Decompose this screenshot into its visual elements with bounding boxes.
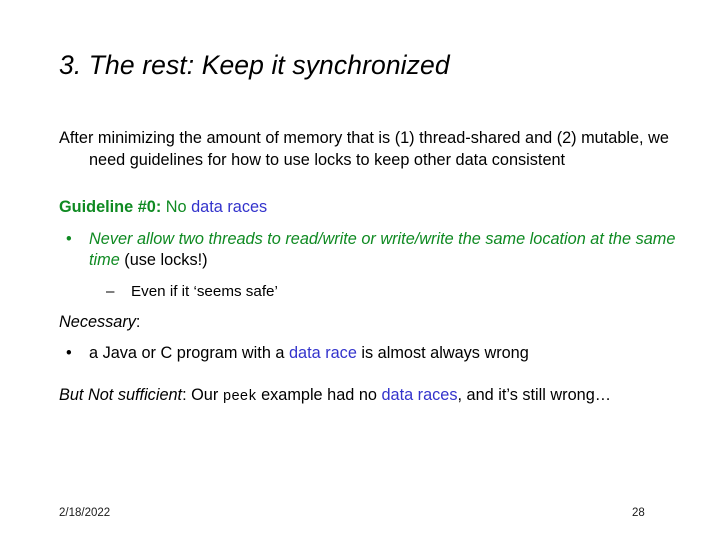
footer-page-number: 28 — [632, 507, 645, 519]
bullet-two-text-before: a Java or C program with a — [89, 344, 289, 362]
intro-paragraph: After minimizing the amount of memory th… — [59, 128, 685, 171]
bullet-two-blue-phrase: data race — [289, 344, 357, 362]
bullet-item-java-c-program: •a Java or C program with a data race is… — [59, 343, 685, 365]
but-not-sufficient-text-after: , and it’s still wrong… — [458, 386, 612, 404]
but-not-sufficient-paragraph: But Not sufficient: Our peek example had… — [59, 385, 685, 409]
guideline-green-word: No — [161, 198, 191, 216]
slide-canvas: 3. The rest: Keep it synchronized After … — [0, 0, 720, 540]
bullet-marker-icon: • — [66, 343, 72, 365]
peek-code-word: peek — [223, 389, 257, 405]
but-not-sufficient-italic-lead: But Not sufficient — [59, 386, 182, 404]
spacer — [59, 219, 685, 229]
sub-bullet-seems-safe: –Even if it ‘seems safe’ — [59, 282, 685, 302]
necessary-heading: Necessary: — [59, 312, 685, 334]
bullet-marker-icon: • — [66, 229, 72, 251]
footer-date: 2/18/2022 — [59, 507, 110, 519]
but-not-sufficient-text-middle: example had no — [257, 386, 382, 404]
guideline-label: Guideline #0: — [59, 198, 161, 216]
but-not-sufficient-blue-phrase: data races — [381, 386, 457, 404]
necessary-colon: : — [136, 313, 141, 331]
guideline-heading: Guideline #0: No data races — [59, 197, 685, 219]
necessary-italic-word: Necessary — [59, 313, 136, 331]
spacer — [59, 171, 685, 197]
bullet-two-text-after: is almost always wrong — [357, 344, 529, 362]
spacer — [59, 302, 685, 312]
slide-body: After minimizing the amount of memory th… — [59, 128, 685, 408]
bullet-one-trailing-text: (use locks!) — [120, 251, 208, 269]
sub-bullet-label: Even if it ‘seems safe’ — [131, 283, 278, 300]
spacer — [59, 272, 685, 282]
spacer — [59, 365, 685, 385]
bullet-item-no-data-races: •Never allow two threads to read/write o… — [59, 229, 685, 272]
sub-bullet-dash-icon: – — [106, 282, 114, 302]
page-title: 3. The rest: Keep it synchronized — [59, 50, 679, 81]
spacer — [59, 333, 685, 343]
guideline-blue-phrase: data races — [191, 198, 267, 216]
but-not-sufficient-colon-text: : Our — [182, 386, 223, 404]
